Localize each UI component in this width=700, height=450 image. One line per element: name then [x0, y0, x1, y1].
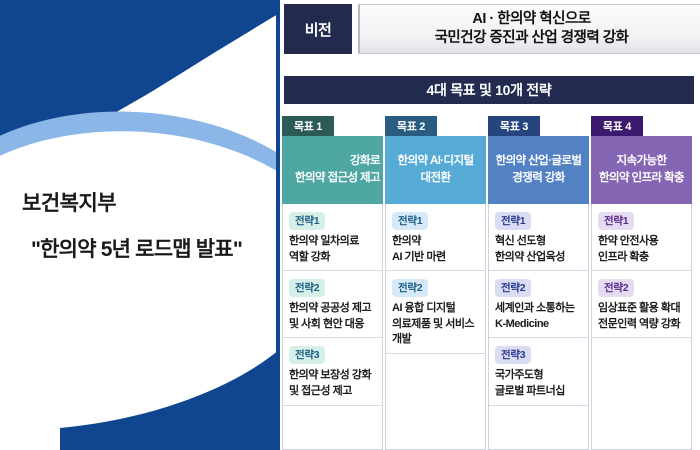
strategy-item[interactable]: 전략2세계인과 소통하는K-Medicine [489, 271, 588, 338]
strategy-line: 역할 강화 [289, 250, 376, 266]
title-text-block: 보건복지부 "한의약 5년 로드맵 발표" [0, 0, 280, 450]
goal-column-4: 목표 4지속가능한한의약 인프라 확충전략1한약 안전사용인프라 확충전략2임상… [591, 116, 692, 450]
vision-line-2: 국민건강 증진과 산업 경쟁력 강화 [435, 29, 629, 48]
strategy-badge: 전략1 [289, 212, 325, 230]
slide-root: 보건복지부 "한의약 5년 로드맵 발표" 비전 AI · 한의약 혁신으로 국… [0, 0, 700, 450]
strategy-badge: 전략1 [598, 212, 634, 230]
goal-statement-2: 한의약 AI·디지털대전환 [385, 136, 486, 204]
goal-tab-3[interactable]: 목표 3 [488, 116, 540, 136]
goal-line: 한의약 산업·글로벌 [496, 153, 582, 170]
strategy-item[interactable]: 전략1혁신 선도형한의약 산업육성 [489, 204, 588, 271]
organization-name: 보건복지부 [22, 187, 116, 217]
strategy-line: 개발 [392, 332, 479, 348]
strategy-badge: 전략3 [289, 346, 325, 364]
strategy-badge: 전략1 [495, 212, 531, 230]
strategy-line: 한의약 [392, 234, 479, 250]
strategy-item[interactable]: 전략2한의약 공공성 제고및 사회 현안 대응 [283, 271, 382, 338]
strategy-list-1: 전략1한의약 일차의료역할 강화전략2한의약 공공성 제고및 사회 현안 대응전… [282, 204, 383, 450]
strategy-line: 혁신 선도형 [495, 234, 582, 250]
goal-line: 한의약 인프라 확충 [599, 170, 684, 187]
goal-line: 지속가능한 [617, 153, 667, 170]
section-banner: 4대 목표 및 10개 전략 [284, 76, 694, 104]
goal-statement-4: 지속가능한한의약 인프라 확충 [591, 136, 692, 204]
vision-statement: AI · 한의약 혁신으로 국민건강 증진과 산업 경쟁력 강화 [358, 4, 700, 54]
strategy-line: 인프라 확충 [598, 250, 685, 266]
vision-row: 비전 AI · 한의약 혁신으로 국민건강 증진과 산업 경쟁력 강화 [284, 4, 700, 54]
strategy-line: 전문인력 역량 강화 [598, 317, 685, 333]
goal-column-2: 목표 2한의약 AI·디지털대전환전략1한의약AI 기반 마련전략2AI 융합 … [385, 116, 486, 450]
strategy-list-4: 전략1한약 안전사용인프라 확충전략2임상표준 활용 확대전문인력 역량 강화 [591, 204, 692, 450]
strategy-list-2: 전략1한의약AI 기반 마련전략2AI 융합 디지털의료제품 및 서비스개발 [385, 204, 486, 450]
strategy-line: 한의약 공공성 제고 [289, 301, 376, 317]
strategy-list-3: 전략1혁신 선도형한의약 산업육성전략2세계인과 소통하는K-Medicine전… [488, 204, 589, 450]
strategy-line: 글로벌 파트너십 [495, 384, 582, 400]
strategy-item[interactable]: 전략3한의약 보장성 강화및 접근성 제고 [283, 338, 382, 405]
strategy-line: K-Medicine [495, 317, 582, 333]
strategy-item[interactable]: 전략3국가주도형글로벌 파트너십 [489, 338, 588, 405]
goal-column-3: 목표 3한의약 산업·글로벌경쟁력 강화전략1혁신 선도형한의약 산업육성전략2… [488, 116, 589, 450]
goal-tab-2[interactable]: 목표 2 [385, 116, 437, 136]
strategy-stack-filler [592, 338, 691, 449]
goal-tab-1[interactable]: 목표 1 [282, 116, 334, 136]
vision-label: 비전 [284, 4, 352, 54]
goal-line: 경쟁력 강화 [512, 170, 565, 187]
strategy-stack-filler [386, 354, 485, 449]
strategy-item[interactable]: 전략1한의약 일차의료역할 강화 [283, 204, 382, 271]
strategy-line: AI 기반 마련 [392, 250, 479, 266]
strategy-line: 임상표준 활용 확대 [598, 301, 685, 317]
strategy-item[interactable]: 전략2임상표준 활용 확대전문인력 역량 강화 [592, 271, 691, 338]
goal-line: 대전환 [421, 170, 451, 187]
goal-statement-3: 한의약 산업·글로벌경쟁력 강화 [488, 136, 589, 204]
strategy-line: 및 접근성 제고 [289, 384, 376, 400]
strategy-item[interactable]: 전략1한의약AI 기반 마련 [386, 204, 485, 271]
strategy-line: 세계인과 소통하는 [495, 301, 582, 317]
strategy-badge: 전략2 [598, 279, 634, 297]
goal-column-1: 목표 1강화로한의약 접근성 제고전략1한의약 일차의료역할 강화전략2한의약 … [282, 116, 383, 450]
strategy-line: AI 융합 디지털 [392, 301, 479, 317]
strategy-stack-filler [283, 406, 382, 449]
strategy-line: 국가주도형 [495, 368, 582, 384]
strategy-badge: 전략2 [289, 279, 325, 297]
strategy-line: 및 사회 현안 대응 [289, 317, 376, 333]
roadmap-diagram-panel: 비전 AI · 한의약 혁신으로 국민건강 증진과 산업 경쟁력 강화 4대 목… [280, 0, 700, 450]
headline-text: "한의약 5년 로드맵 발표" [22, 233, 242, 263]
goal-line: 강화로 [350, 153, 380, 170]
vision-line-1: AI · 한의약 혁신으로 [472, 10, 590, 29]
goal-columns-grid: 목표 1강화로한의약 접근성 제고전략1한의약 일차의료역할 강화전략2한의약 … [282, 116, 700, 450]
strategy-line: 한의약 보장성 강화 [289, 368, 376, 384]
strategy-item[interactable]: 전략2AI 융합 디지털의료제품 및 서비스개발 [386, 271, 485, 354]
strategy-line: 한의약 산업육성 [495, 250, 582, 266]
left-title-panel: 보건복지부 "한의약 5년 로드맵 발표" [0, 0, 280, 450]
strategy-item[interactable]: 전략1한약 안전사용인프라 확충 [592, 204, 691, 271]
goal-line: 한의약 AI·디지털 [397, 153, 473, 170]
strategy-stack-filler [489, 406, 588, 449]
strategy-line: 의료제품 및 서비스 [392, 317, 479, 333]
strategy-line: 한약 안전사용 [598, 234, 685, 250]
goal-statement-1: 강화로한의약 접근성 제고 [282, 136, 383, 204]
strategy-badge: 전략3 [495, 346, 531, 364]
goal-line: 한의약 접근성 제고 [295, 170, 380, 187]
strategy-badge: 전략2 [392, 279, 428, 297]
goal-tab-4[interactable]: 목표 4 [591, 116, 643, 136]
strategy-line: 한의약 일차의료 [289, 234, 376, 250]
strategy-badge: 전략2 [495, 279, 531, 297]
strategy-badge: 전략1 [392, 212, 428, 230]
